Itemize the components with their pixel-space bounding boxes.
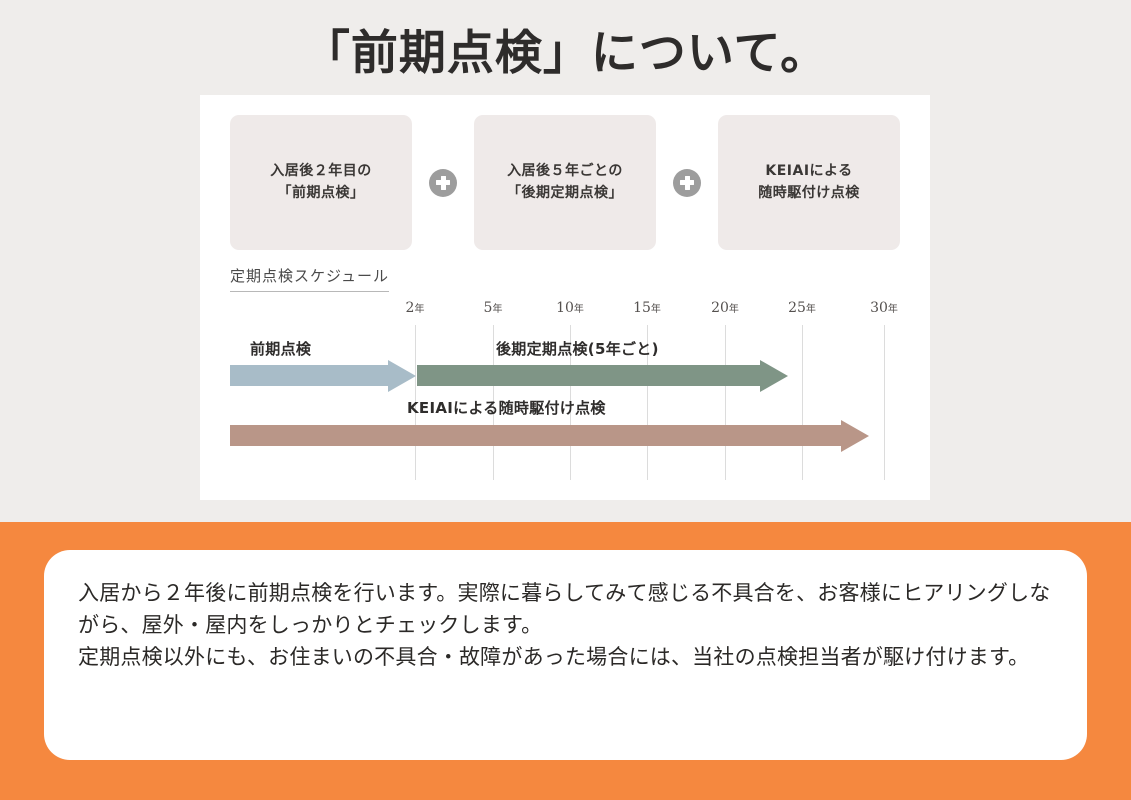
description-paragraph-1: 入居から２年後に前期点検を行います。実際に暮らしてみて感じる不具合を、お客様にヒ… — [78, 578, 1051, 642]
arrow-head — [841, 420, 869, 452]
tick-value: 25 — [788, 300, 806, 316]
arrow-label-early-inspection: 前期点検 — [250, 338, 311, 359]
description-card: 入居から２年後に前期点検を行います。実際に暮らしてみて感じる不具合を、お客様にヒ… — [44, 550, 1087, 760]
arrow-shaft — [230, 365, 390, 386]
description-paragraph-2: 定期点検以外にも、お住まいの不具合・故障があった場合には、当社の点検担当者が駆け… — [78, 642, 1051, 674]
tick-unit: 年 — [729, 304, 739, 315]
arrow-label-ondemand-inspection: KEIAIによる随時駆付け点検 — [407, 397, 606, 418]
arrow-head — [388, 360, 416, 392]
inspection-box-2: 入居後５年ごとの 「後期定期点検」 — [474, 115, 656, 250]
tick-unit: 年 — [651, 304, 661, 315]
plus-icon — [429, 169, 457, 197]
tick-unit: 年 — [888, 304, 898, 315]
page-title: 「前期点検」について。 — [0, 14, 1131, 83]
diagram-panel: 入居後２年目の 「前期点検」 入居後５年ごとの 「後期定期点検」 KEIAIによ… — [200, 95, 930, 500]
tick-label-10y: 10年 — [556, 300, 584, 316]
tick-label-25y: 25年 — [788, 300, 816, 316]
tick-unit: 年 — [574, 304, 584, 315]
tick-value: 15 — [633, 300, 651, 316]
inspection-box-1-line1: 入居後２年目の — [270, 161, 372, 183]
tick-label-2y: 2年 — [406, 300, 425, 316]
plus-icon — [673, 169, 701, 197]
tick-unit: 年 — [806, 304, 816, 315]
inspection-box-2-line1: 入居後５年ごとの — [507, 161, 623, 183]
arrow-shaft — [230, 425, 843, 446]
tick-value: 2 — [406, 300, 415, 316]
inspection-box-1-line2: 「前期点検」 — [278, 183, 365, 205]
tick-label-20y: 20年 — [711, 300, 739, 316]
inspection-box-row: 入居後２年目の 「前期点検」 入居後５年ごとの 「後期定期点検」 KEIAIによ… — [230, 115, 900, 250]
inspection-box-1: 入居後２年目の 「前期点検」 — [230, 115, 412, 250]
gridline-25y — [802, 325, 803, 480]
tick-value: 30 — [870, 300, 888, 316]
tick-label-15y: 15年 — [633, 300, 661, 316]
gridline-20y — [725, 325, 726, 480]
inspection-box-3-line1: KEIAIによる — [765, 161, 852, 183]
tick-value: 5 — [484, 300, 493, 316]
arrow-later-inspection — [417, 365, 789, 386]
tick-unit: 年 — [492, 304, 502, 315]
tick-label-5y: 5年 — [484, 300, 503, 316]
inspection-box-3-line2: 随時駆付け点検 — [758, 183, 860, 205]
arrow-early-inspection — [230, 365, 415, 386]
arrow-label-later-inspection: 後期定期点検(5年ごと) — [496, 338, 659, 359]
inspection-box-3: KEIAIによる 随時駆付け点検 — [718, 115, 900, 250]
gridline-30y — [884, 325, 885, 480]
tick-value: 10 — [556, 300, 574, 316]
tick-unit: 年 — [414, 304, 424, 315]
arrow-shaft — [417, 365, 762, 386]
arrow-ondemand-inspection — [230, 425, 870, 446]
schedule-timeline: 2年 5年 10年 15年 20年 25年 30年 前期点検 後期定期点検(5年… — [200, 300, 930, 485]
tick-label-30y: 30年 — [870, 300, 898, 316]
inspection-box-2-line2: 「後期定期点検」 — [507, 183, 623, 205]
tick-value: 20 — [711, 300, 729, 316]
schedule-heading: 定期点検スケジュール — [230, 265, 389, 292]
arrow-head — [760, 360, 788, 392]
